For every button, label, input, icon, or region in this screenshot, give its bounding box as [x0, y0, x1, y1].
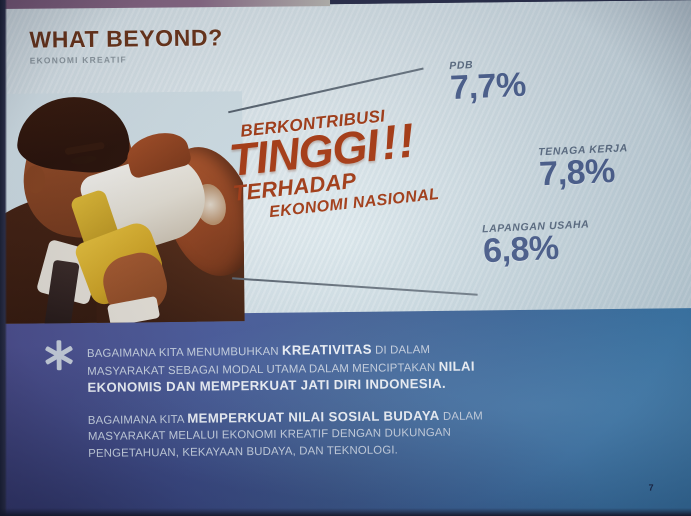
- p2l1-tail: DALAM: [440, 410, 483, 422]
- p1l2-normal: MASYARAKAT SEBAGAI MODAL UTAMA DALAM MEN…: [87, 361, 439, 377]
- p1l1-strong: KREATIVITAS: [282, 342, 372, 358]
- slide-title-block: WHAT BEYOND? EKONOMI KREATIF: [29, 24, 223, 65]
- p1l1-normal: BAGAIMANA KITA MENUMBUHKAN: [87, 346, 282, 360]
- page-number: 7: [649, 483, 654, 493]
- body-text-block: BAGAIMANA KITA MENUMBUHKAN KREATIVITAS D…: [87, 339, 648, 462]
- screen-left-edge: [0, 0, 7, 516]
- stat-tenaga-kerja-value: 7,8%: [538, 154, 629, 191]
- p1l1-tail: DI DALAM: [372, 344, 430, 357]
- stat-pdb-value: 7,7%: [450, 69, 527, 106]
- paragraph-2: BAGAIMANA KITA MEMPERKUAT NILAI SOSIAL B…: [88, 405, 649, 462]
- p1l2-strong: NILAI: [439, 358, 475, 373]
- page-title: WHAT BEYOND?: [29, 24, 223, 53]
- p2l1-normal: BAGAIMANA KITA: [88, 413, 188, 426]
- p2l1-strong: MEMPERKUAT NILAI SOSIAL BUDAYA: [187, 407, 439, 425]
- screen-bottom-edge: [0, 508, 691, 516]
- p1l3-strong: EKONOMIS DAN MEMPERKUAT JATI DIRI INDONE…: [87, 376, 446, 395]
- stat-lapangan-usaha: LAPANGAN USAHA 6,8%: [482, 218, 591, 268]
- headline-block: BERKONTRIBUSI TINGGI !! TERHADAP EKONOMI…: [225, 101, 440, 225]
- asterisk-icon: [43, 339, 75, 371]
- stat-pdb: PDB 7,7%: [449, 57, 527, 106]
- ear: [25, 165, 45, 193]
- stat-lapangan-usaha-value: 6,8%: [482, 230, 591, 268]
- presentation-slide: WHAT BEYOND? EKONOMI KREATIF: [0, 0, 691, 516]
- headline-exclamations: !!: [379, 117, 418, 168]
- paragraph-1: BAGAIMANA KITA MENUMBUHKAN KREATIVITAS D…: [87, 339, 648, 398]
- man-with-megaphone-photo: [0, 91, 245, 324]
- projector-screen-photo: WHAT BEYOND? EKONOMI KREATIF: [0, 0, 691, 516]
- stat-tenaga-kerja: TENAGA KERJA 7,8%: [538, 142, 630, 191]
